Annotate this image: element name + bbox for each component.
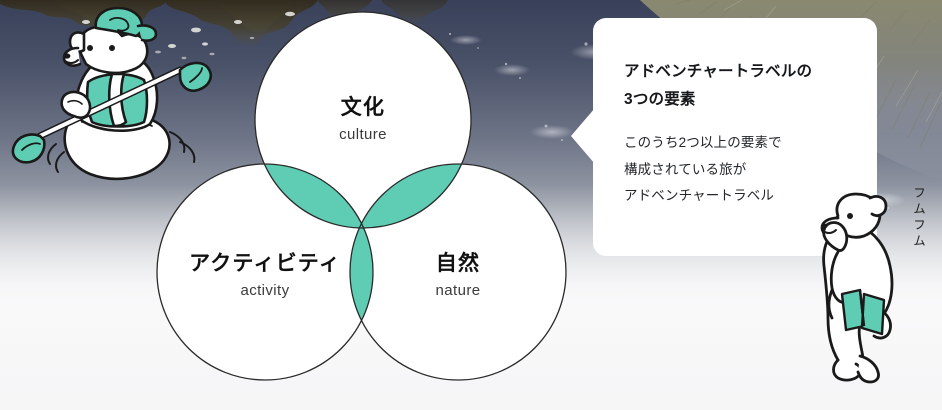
callout-title-line-2: 3つの要素 — [624, 86, 859, 114]
infographic-canvas: 文化 culture アクティビティ activity 自然 nature アド… — [0, 0, 942, 410]
callout-tail-icon — [571, 108, 595, 164]
callout-body-line-1: このうち2つ以上の要素で — [624, 130, 859, 156]
fumufumu-annotation: フムフム — [902, 186, 924, 250]
polar-bear-thinking-illustration — [798, 190, 916, 390]
callout-title: アドベンチャートラベルの 3つの要素 — [624, 58, 859, 114]
callout-title-line-1: アドベンチャートラベルの — [624, 58, 859, 86]
callout-body-line-2: 構成されている旅が — [624, 157, 859, 183]
